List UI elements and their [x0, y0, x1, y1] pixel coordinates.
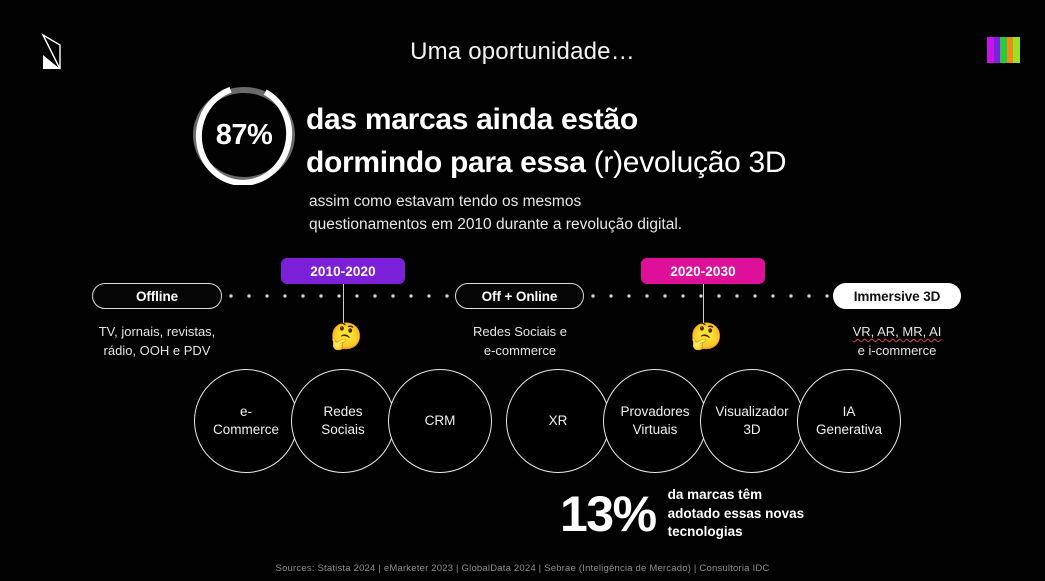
headline: das marcas ainda estão dormindo para ess…: [306, 98, 946, 184]
headline-line-1: das marcas ainda estão: [306, 98, 946, 141]
stat-ring-value: 87%: [189, 85, 299, 185]
timeline-dotted-segment-2: [584, 294, 834, 298]
tech-circle-redes-sociais[interactable]: Redes Sociais: [291, 369, 395, 473]
tech-circle-line-2: Virtuais: [620, 421, 689, 439]
tech-circle-line-1: Provadores: [620, 403, 689, 421]
page-title: Uma oportunidade…: [0, 38, 1045, 66]
bottom-stat-desc-line-2: adotado essas novas: [668, 505, 805, 524]
tech-circle-visualizador-3d[interactable]: Visualizador 3D: [700, 369, 804, 473]
bottom-stat-desc-line-1: da marcas têm: [668, 486, 805, 505]
subheadline: assim como estavam tendo os mesmos quest…: [309, 190, 682, 236]
colorbar-swatch-3: [1000, 37, 1007, 63]
caption-line-1: VR, AR, MR, AI: [802, 322, 992, 341]
era-stem-2020-2030: [703, 284, 705, 326]
tech-circle-line-1: Redes: [321, 403, 365, 421]
tech-circle-line-1: e-: [213, 403, 279, 421]
timeline-dotted-segment-1: [222, 294, 460, 298]
tech-circle-e-commerce[interactable]: e- Commerce: [194, 369, 298, 473]
timeline-caption-offline: TV, jornais, revistas, rádio, OOH e PDV: [62, 322, 252, 360]
thinking-face-emoji: 🤔: [330, 323, 362, 349]
era-badge-2020-2030[interactable]: 2020-2030: [641, 258, 765, 284]
caption-line-1: TV, jornais, revistas,: [62, 322, 252, 341]
tech-circle-xr[interactable]: XR: [506, 369, 610, 473]
bottom-stat-value: 13%: [560, 489, 656, 539]
tech-circle-line-1: IA: [816, 403, 882, 421]
tech-circle-provadores-virtuais[interactable]: Provadores Virtuais: [603, 369, 707, 473]
timeline-stage-off-online[interactable]: Off + Online: [455, 283, 584, 309]
subheadline-line-1: assim como estavam tendo os mesmos: [309, 190, 682, 213]
brand-colorbar: [987, 37, 1020, 63]
thinking-face-emoji: 🤔: [690, 323, 722, 349]
tech-circle-crm[interactable]: CRM: [388, 369, 492, 473]
tech-circle-ia-generativa[interactable]: IA Generativa: [797, 369, 901, 473]
caption-line-2: rádio, OOH e PDV: [62, 341, 252, 360]
caption-line-2: e i-commerce: [802, 341, 992, 360]
bottom-stat: 13% da marcas têm adotado essas novas te…: [560, 486, 804, 542]
stat-ring-87: 87%: [189, 85, 299, 185]
timeline-caption-off-online: Redes Sociais e e-commerce: [425, 322, 615, 360]
tech-circle-line-2: 3D: [715, 421, 788, 439]
tech-circle-line-1: XR: [549, 412, 568, 430]
timeline-caption-immersive-3d: VR, AR, MR, AI e i-commerce: [802, 322, 992, 360]
timeline-stage-immersive-3d[interactable]: Immersive 3D: [833, 283, 961, 309]
colorbar-swatch-4: [1007, 37, 1014, 63]
tech-circles-row: e- Commerce Redes Sociais CRM XR Prova: [0, 369, 1045, 475]
colorbar-swatch-1: [987, 37, 994, 63]
era-badge-2010-2020[interactable]: 2010-2020: [281, 258, 405, 284]
caption-line-1: Redes Sociais e: [425, 322, 615, 341]
bottom-stat-desc-line-3: tecnologias: [668, 523, 805, 542]
caption-line-2: e-commerce: [425, 341, 615, 360]
tech-circle-line-2: Sociais: [321, 421, 365, 439]
tech-circle-line-2: Commerce: [213, 421, 279, 439]
headline-line-2: dormindo para essa (r)evolução 3D: [306, 141, 946, 184]
era-stem-2010-2020: [343, 284, 345, 326]
headline-line-2-bold: dormindo para essa: [306, 146, 594, 179]
timeline: Offline Off + Online Immersive 3D 2010-2…: [0, 0, 1045, 581]
tech-circle-line-2: Generativa: [816, 421, 882, 439]
tech-circle-line-1: Visualizador: [715, 403, 788, 421]
slide-canvas: Uma oportunidade… 87% das marcas ainda e…: [0, 0, 1045, 581]
sources-footer: Sources: Statista 2024 | eMarketer 2023 …: [0, 563, 1045, 574]
colorbar-swatch-2: [994, 37, 1001, 63]
bottom-stat-description: da marcas têm adotado essas novas tecnol…: [668, 486, 805, 542]
subheadline-line-2: questionamentos em 2010 durante a revolu…: [309, 213, 682, 236]
headline-line-2-light: (r)evolução 3D: [594, 146, 787, 179]
colorbar-swatch-5: [1013, 37, 1020, 63]
tech-circle-line-1: CRM: [425, 412, 456, 430]
timeline-stage-offline[interactable]: Offline: [92, 283, 222, 309]
